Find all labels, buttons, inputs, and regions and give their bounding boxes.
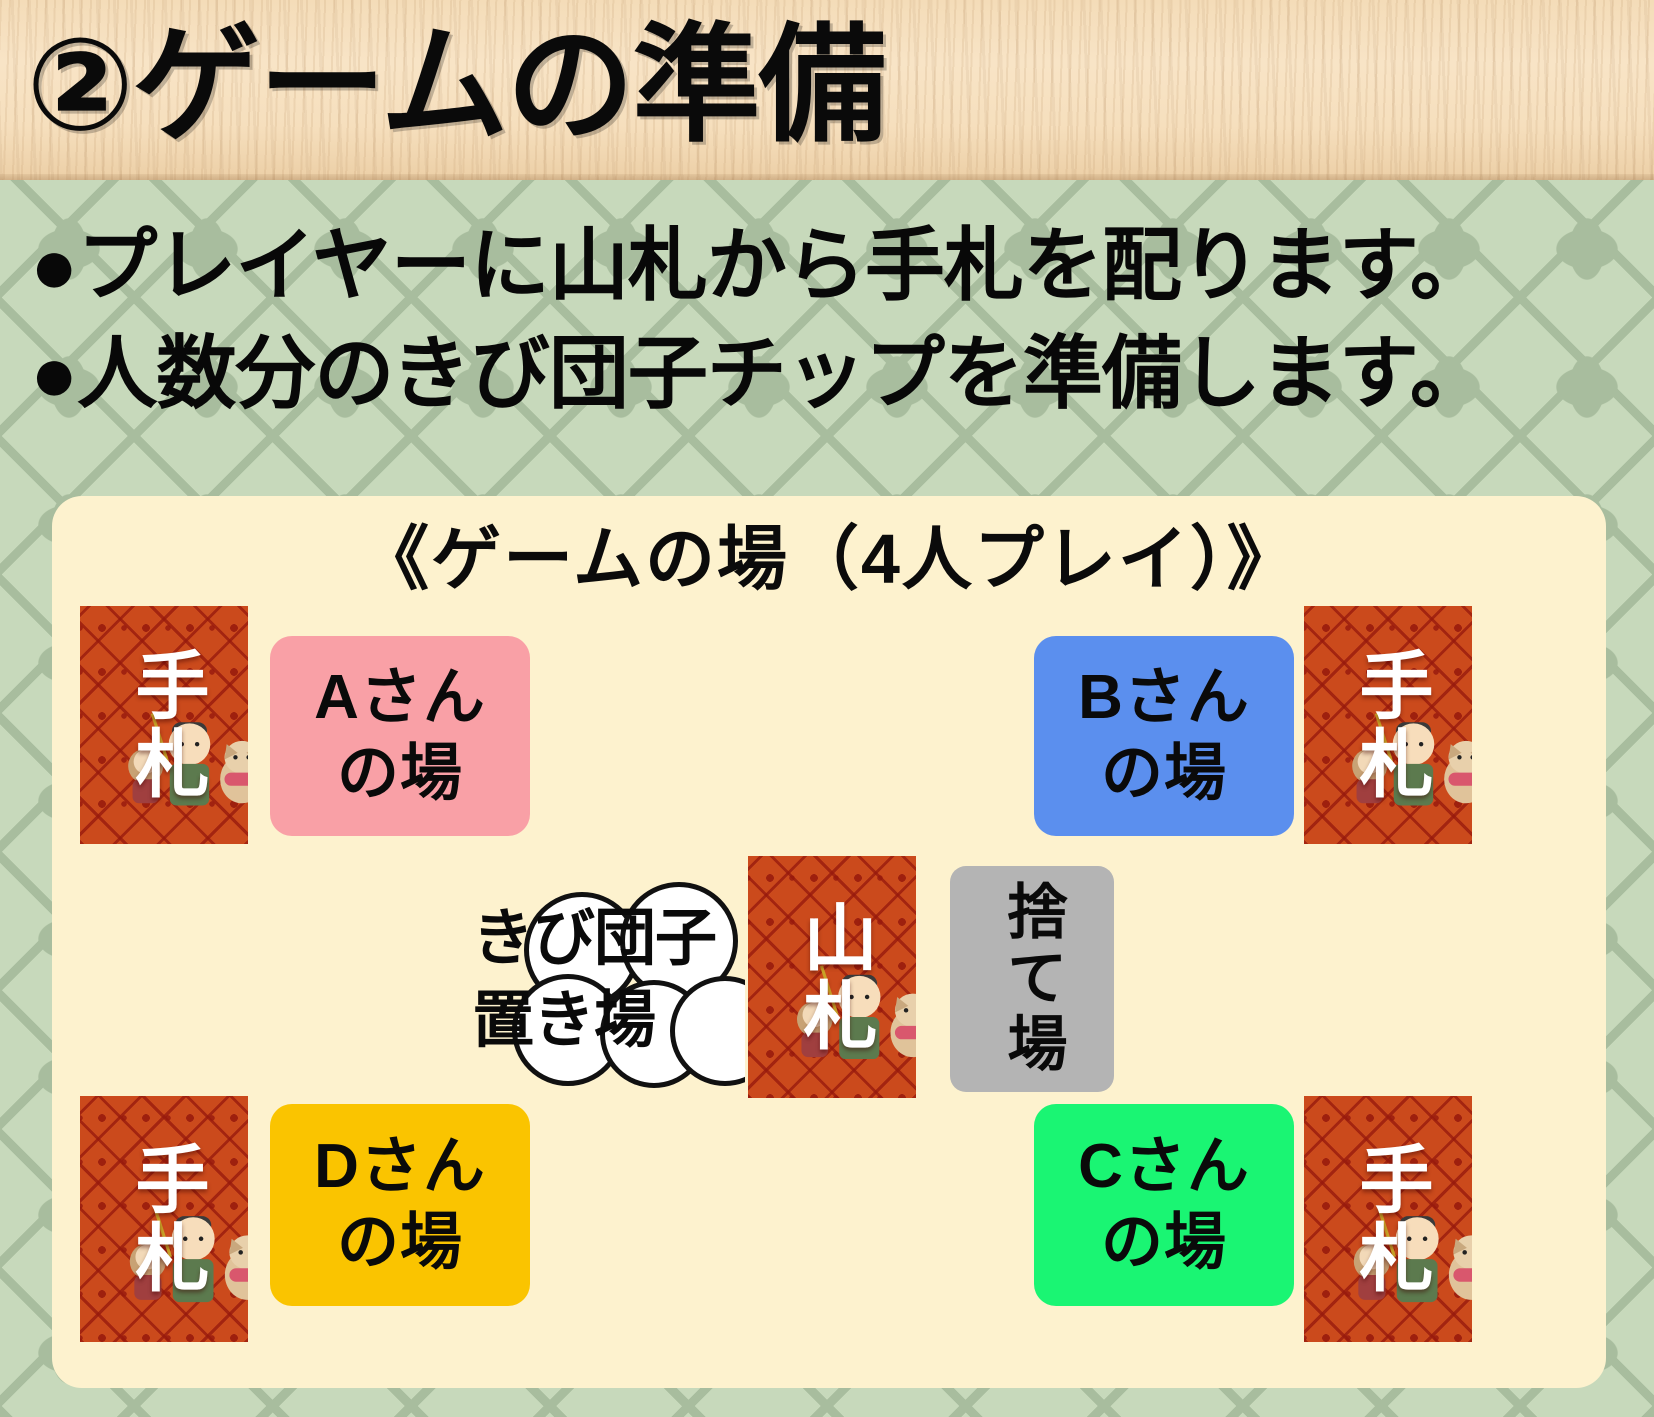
player-area-b-name: Bさん — [1078, 660, 1250, 736]
player-area-c-sub: の場 — [1101, 1205, 1227, 1281]
deck-card-label: 山札 — [792, 892, 872, 1062]
dango-zone-label-line2: 置き場 — [472, 980, 772, 1062]
slide-root: ②ゲームの準備 ●プレイヤーに山札から手札を配ります。 ●人数分のきび団子チップ… — [0, 0, 1654, 1417]
hand-card-c-label: 手札 — [1348, 1134, 1428, 1304]
deck-card[interactable]: 山札 — [748, 856, 916, 1098]
board-title: 《ゲームの場（4人プレイ）》 — [52, 516, 1606, 602]
instruction-bullet-2: ●人数分のきび団子チップを準備します。 — [30, 320, 1630, 428]
player-area-d-name: Dさん — [314, 1129, 486, 1205]
player-area-c-name: Cさん — [1078, 1129, 1250, 1205]
player-area-b-sub: の場 — [1101, 736, 1227, 812]
discard-pile[interactable]: 捨て場 — [950, 866, 1114, 1092]
player-area-a[interactable]: Aさん の場 — [270, 636, 530, 836]
dango-zone-label-line1: きび団子 — [472, 898, 772, 980]
player-area-b[interactable]: Bさん の場 — [1034, 636, 1294, 836]
game-board-panel: 《ゲームの場（4人プレイ）》 手札 Aさん の場 — [52, 496, 1606, 1388]
instruction-list: ●プレイヤーに山札から手札を配ります。 ●人数分のきび団子チップを準備します。 — [30, 212, 1630, 428]
instruction-bullet-1: ●プレイヤーに山札から手札を配ります。 — [30, 212, 1630, 320]
hand-card-a-label: 手札 — [124, 640, 204, 810]
player-area-d-sub: の場 — [337, 1205, 463, 1281]
hand-card-d-label: 手札 — [124, 1134, 204, 1304]
hand-card-a[interactable]: 手札 — [80, 606, 248, 844]
player-area-a-sub: の場 — [337, 736, 463, 812]
dango-zone-label: きび団子 置き場 — [472, 898, 772, 1062]
hand-card-d[interactable]: 手札 — [80, 1096, 248, 1342]
hand-card-c[interactable]: 手札 — [1304, 1096, 1472, 1342]
hand-card-b-label: 手札 — [1348, 640, 1428, 810]
player-area-c[interactable]: Cさん の場 — [1034, 1104, 1294, 1306]
player-area-d[interactable]: Dさん の場 — [270, 1104, 530, 1306]
page-title: ②ゲームの準備 — [26, 6, 885, 166]
dango-chip-zone[interactable]: きび団子 置き場 — [472, 876, 772, 1068]
hand-card-b[interactable]: 手札 — [1304, 606, 1472, 844]
header-bar: ②ゲームの準備 — [0, 0, 1654, 180]
discard-pile-label: 捨て場 — [996, 880, 1068, 1078]
player-area-a-name: Aさん — [314, 660, 486, 736]
